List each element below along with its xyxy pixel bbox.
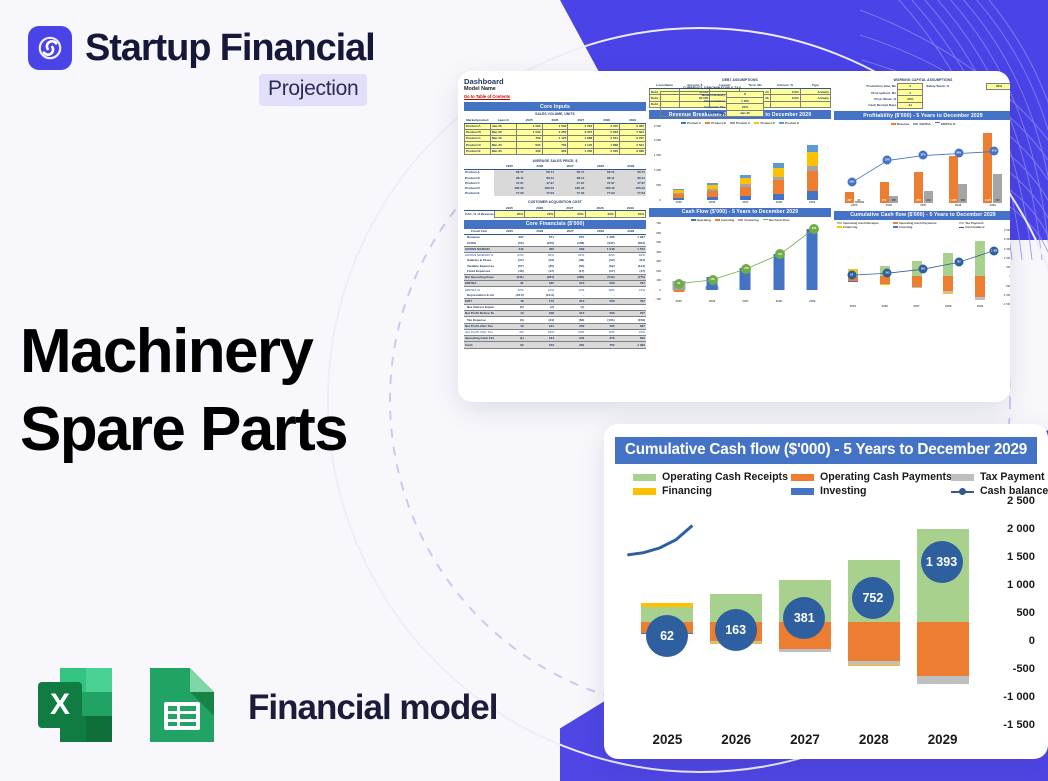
brand-name: Startup Financial bbox=[85, 29, 375, 67]
chart-title: Cumulative Cash flow ($'000) - 5 Years t… bbox=[615, 437, 1037, 464]
legend-item: Investing bbox=[715, 218, 734, 222]
page-title: Machinery Spare Parts bbox=[20, 313, 347, 469]
format-badges: X Financial model bbox=[34, 664, 498, 751]
y-tick: -500 bbox=[1005, 284, 1010, 288]
x-tick: 2025 bbox=[676, 200, 682, 204]
startup-financial-logo-icon bbox=[28, 26, 72, 70]
x-tick: 2028 bbox=[776, 299, 782, 303]
x-axis: 20252026202720282029 bbox=[834, 304, 1010, 308]
legend-item: Financing bbox=[633, 485, 791, 497]
x-tick: 2029 bbox=[809, 299, 815, 303]
core-inputs-band: Core Inputs bbox=[464, 102, 646, 111]
y-tick: 1 000 bbox=[1004, 256, 1010, 260]
y-tick: -1 000 bbox=[1003, 691, 1035, 703]
table-row: CAC, % of Revenue20%20%20%20%20% bbox=[464, 211, 646, 217]
data-label: 101 bbox=[708, 275, 718, 285]
legend-swatch bbox=[791, 474, 814, 481]
chart-legend: Operating Cash ReceiptsOperating Cash Pa… bbox=[834, 220, 1010, 230]
data-label: 39% bbox=[954, 149, 963, 158]
core-financials-table: Fiscal Year 20252026 20272028 2029 Reven… bbox=[464, 229, 646, 349]
y-tick: 2 000 bbox=[1007, 523, 1035, 535]
table-row: Launch dateJan-25 bbox=[661, 110, 764, 116]
y-tick: 1 500 bbox=[1007, 551, 1035, 563]
data-label: 62 bbox=[847, 271, 856, 280]
y-tick: 2 500 bbox=[1007, 495, 1035, 507]
format-badge-label: Financial model bbox=[248, 688, 498, 728]
data-label: 752 bbox=[954, 258, 963, 267]
dashboard-sheet: Dashboard Model Name Go to Table of Cont… bbox=[458, 71, 1010, 402]
page-title-line-2: Spare Parts bbox=[20, 391, 347, 469]
data-label: 41% bbox=[990, 147, 999, 156]
y-tick: 500 bbox=[656, 183, 661, 187]
profitability-title: Profitability ($'000) - 5 Years to Decem… bbox=[834, 111, 1010, 120]
bar-stack bbox=[807, 145, 818, 200]
legend-item: Product B bbox=[705, 121, 726, 125]
y-tick: 2 500 bbox=[1004, 228, 1010, 232]
legend-item: Financing bbox=[837, 225, 889, 229]
y-tick: 2 000 bbox=[654, 138, 661, 142]
chart-legend: Operating Cash ReceiptsOperating Cash Pa… bbox=[615, 464, 1037, 497]
data-label: 37% bbox=[919, 151, 928, 160]
cash-flow-chart: OperatingInvestingFinancingNet Cash Flow… bbox=[649, 217, 831, 303]
x-tick: 2029 bbox=[809, 200, 815, 204]
legend-swatch bbox=[633, 474, 656, 481]
legend-item: Revenue bbox=[891, 122, 910, 126]
data-label: 371 bbox=[775, 249, 785, 259]
data-label: 10% bbox=[847, 177, 856, 186]
legend-item: Financing bbox=[738, 218, 758, 222]
data-label: 381 bbox=[783, 597, 825, 639]
table-row: Cash621633817521 393 bbox=[464, 342, 646, 348]
data-label: 752 bbox=[852, 577, 894, 619]
x-tick: 2025 bbox=[850, 304, 856, 308]
legend-item: Product E bbox=[779, 121, 799, 125]
cumulative-cash-flow-mini-chart: Operating Cash ReceiptsOperating Cash Pa… bbox=[834, 220, 1010, 308]
x-tick: 2025 bbox=[851, 203, 857, 207]
legend-item: Cash balance bbox=[959, 225, 985, 229]
y-tick: -1 500 bbox=[1003, 719, 1035, 731]
legend-label: Investing bbox=[820, 485, 867, 497]
legend-item: Operating bbox=[691, 218, 711, 222]
x-tick: 2027 bbox=[742, 200, 748, 204]
x-tick: 2027 bbox=[742, 299, 748, 303]
legend-item: Product A bbox=[681, 121, 701, 125]
y-tick: 1 500 bbox=[654, 153, 661, 157]
x-tick: 2026 bbox=[702, 732, 771, 747]
y-tick: 2 500 bbox=[654, 124, 661, 128]
data-label: 381 bbox=[919, 265, 928, 274]
legend-label: Tax Payment bbox=[980, 471, 1045, 483]
y-tick: 500 bbox=[1006, 265, 1010, 269]
dashboard-preview-card[interactable]: Dashboard Model Name Go to Table of Cont… bbox=[458, 71, 1010, 402]
legend-swatch bbox=[633, 488, 656, 495]
microsoft-excel-icon: X bbox=[34, 664, 116, 751]
cumulative-cash-flow-mini-title: Cumulative Cash flow ($'000) - 5 Years t… bbox=[834, 211, 1010, 220]
legend-item: Investing bbox=[791, 485, 951, 497]
y-tick: 1 000 bbox=[654, 168, 661, 172]
chart-plot-area: 621633817521 393 2 5002 0001 5001 000500… bbox=[615, 501, 1037, 751]
x-axis: 20252026202720282029 bbox=[834, 203, 1010, 207]
legend-item: Product D bbox=[754, 121, 775, 125]
page-title-line-1: Machinery bbox=[20, 313, 347, 391]
legend-label: Operating Cash Receipts bbox=[662, 471, 788, 483]
x-tick: 2026 bbox=[709, 299, 715, 303]
x-tick: 2028 bbox=[955, 203, 961, 207]
dashboard-column-right: WORKING CAPITAL ASSUMPTIONS Production t… bbox=[834, 77, 1010, 402]
data-label: 32% bbox=[883, 156, 892, 165]
data-label: 218 bbox=[741, 264, 751, 274]
y-tick: 500 bbox=[1016, 607, 1035, 619]
x-tick: 2026 bbox=[886, 203, 892, 207]
y-axis: 2 5002 0001 5001 0005000-500-1 000-1 500 bbox=[979, 501, 1037, 725]
y-tick: 1 500 bbox=[1004, 247, 1010, 251]
data-label: 640 bbox=[809, 224, 819, 234]
dashboard-model-name: Model Name bbox=[464, 86, 646, 93]
cash-flow-title: Cash Flow ($'000) - 5 Years to December … bbox=[649, 208, 831, 217]
x-tick: 2025 bbox=[633, 732, 702, 747]
x-tick: 2027 bbox=[771, 732, 840, 747]
cumulative-cash-flow-chart: Cumulative Cash flow ($'000) - 5 Years t… bbox=[604, 424, 1048, 759]
y-axis: 05001 0001 5002 0002 500 bbox=[649, 126, 662, 200]
core-financials-band: Core Financials ($'000) bbox=[464, 220, 646, 229]
brand-subtitle: Projection bbox=[268, 77, 358, 100]
svg-text:X: X bbox=[50, 688, 70, 721]
legend-swatch bbox=[951, 488, 974, 495]
google-sheets-icon bbox=[144, 664, 220, 751]
bar-stack bbox=[707, 183, 718, 199]
legend-item: Operating Cash Receipts bbox=[633, 471, 791, 483]
y-tick: 1 000 bbox=[1007, 579, 1035, 591]
legend-item: Net Cash Flow bbox=[763, 218, 790, 222]
legend-item: EBITDA bbox=[913, 122, 930, 126]
x-tick: 2028 bbox=[839, 732, 908, 747]
dashboard-column-middle: DEBT ASSUMPTIONS Loan NameAmount, $ Laun… bbox=[649, 77, 831, 402]
dashboard-heading: Dashboard bbox=[464, 77, 646, 86]
table-row: Product EMar-254009001 3502 0253 038 bbox=[465, 148, 646, 154]
brand-lockup: Startup Financial bbox=[28, 26, 375, 70]
revenue-breakdown-chart: Product AProduct BProduct CProduct DProd… bbox=[649, 119, 831, 203]
x-tick: 2026 bbox=[709, 200, 715, 204]
data-label: 163 bbox=[715, 609, 757, 651]
y-tick: 0 bbox=[1009, 274, 1010, 278]
working-capital-table: Production time, Mo2Safety Stock, %30% P… bbox=[834, 83, 1010, 109]
dashboard-column-left: Dashboard Model Name Go to Table of Cont… bbox=[464, 77, 646, 402]
x-tick: 2025 bbox=[676, 299, 682, 303]
legend-label: Operating Cash Payments bbox=[820, 471, 952, 483]
legend-item: Investing bbox=[893, 225, 955, 229]
y-tick: 2 000 bbox=[1004, 237, 1010, 241]
legend-item: Operating Cash Payments bbox=[791, 471, 951, 483]
x-tick: 2028 bbox=[776, 200, 782, 204]
avg-price-table: 2025 2026 2027 2028 2029 Product A58.715… bbox=[464, 164, 646, 196]
profitability-chart: RevenueEBITDAEBITDA % 297315711858573131… bbox=[834, 120, 1010, 206]
bar-stack bbox=[773, 163, 784, 199]
y-tick: 0 bbox=[659, 198, 661, 202]
x-tick: 2026 bbox=[882, 304, 888, 308]
x-axis: 20252026202720282029 bbox=[649, 299, 831, 303]
legend-item: Product C bbox=[730, 121, 751, 125]
x-tick: 2029 bbox=[908, 732, 977, 747]
x-axis: 20252026202720282029 bbox=[649, 200, 831, 204]
cumulative-cash-flow-card[interactable]: Cumulative Cash flow ($'000) - 5 Years t… bbox=[604, 424, 1048, 759]
legend-swatch bbox=[791, 488, 814, 495]
sales-volume-table: Market/product Launch 2025 2026 2027 202… bbox=[464, 117, 646, 154]
y-tick: -1 000 bbox=[1003, 293, 1010, 297]
x-tick: 2029 bbox=[990, 203, 996, 207]
data-label: 1 393 bbox=[921, 541, 963, 583]
brand-subtitle-chip: Projection bbox=[259, 74, 367, 106]
data-label: 62 bbox=[646, 615, 688, 657]
y-tick: -500 bbox=[1013, 663, 1035, 675]
legend-swatch bbox=[951, 474, 974, 481]
data-label: 62 bbox=[674, 279, 684, 289]
x-tick: 2029 bbox=[977, 304, 983, 308]
table-row: Cash Receipt Days21 bbox=[834, 102, 1010, 108]
bar-stack bbox=[740, 175, 751, 199]
x-tick: 2028 bbox=[945, 304, 951, 308]
y-tick: 0 bbox=[1029, 635, 1035, 647]
x-axis: 20252026202720282029 bbox=[633, 727, 977, 751]
legend-item: EBITDA % bbox=[935, 122, 956, 126]
y-tick: -1 500 bbox=[1003, 302, 1010, 306]
bar-stack bbox=[673, 189, 684, 199]
cac-table: 20252026 20272028 2029 CAC, % of Revenue… bbox=[464, 205, 646, 217]
legend-item: Tax Payment bbox=[951, 471, 1048, 483]
x-tick: 2027 bbox=[920, 203, 926, 207]
x-tick: 2027 bbox=[913, 304, 919, 308]
legend-label: Financing bbox=[662, 485, 712, 497]
currency-block: CURRENCY, DENOMINATOR & TAXModel Currenc… bbox=[660, 85, 764, 117]
data-label: 163 bbox=[883, 269, 892, 278]
